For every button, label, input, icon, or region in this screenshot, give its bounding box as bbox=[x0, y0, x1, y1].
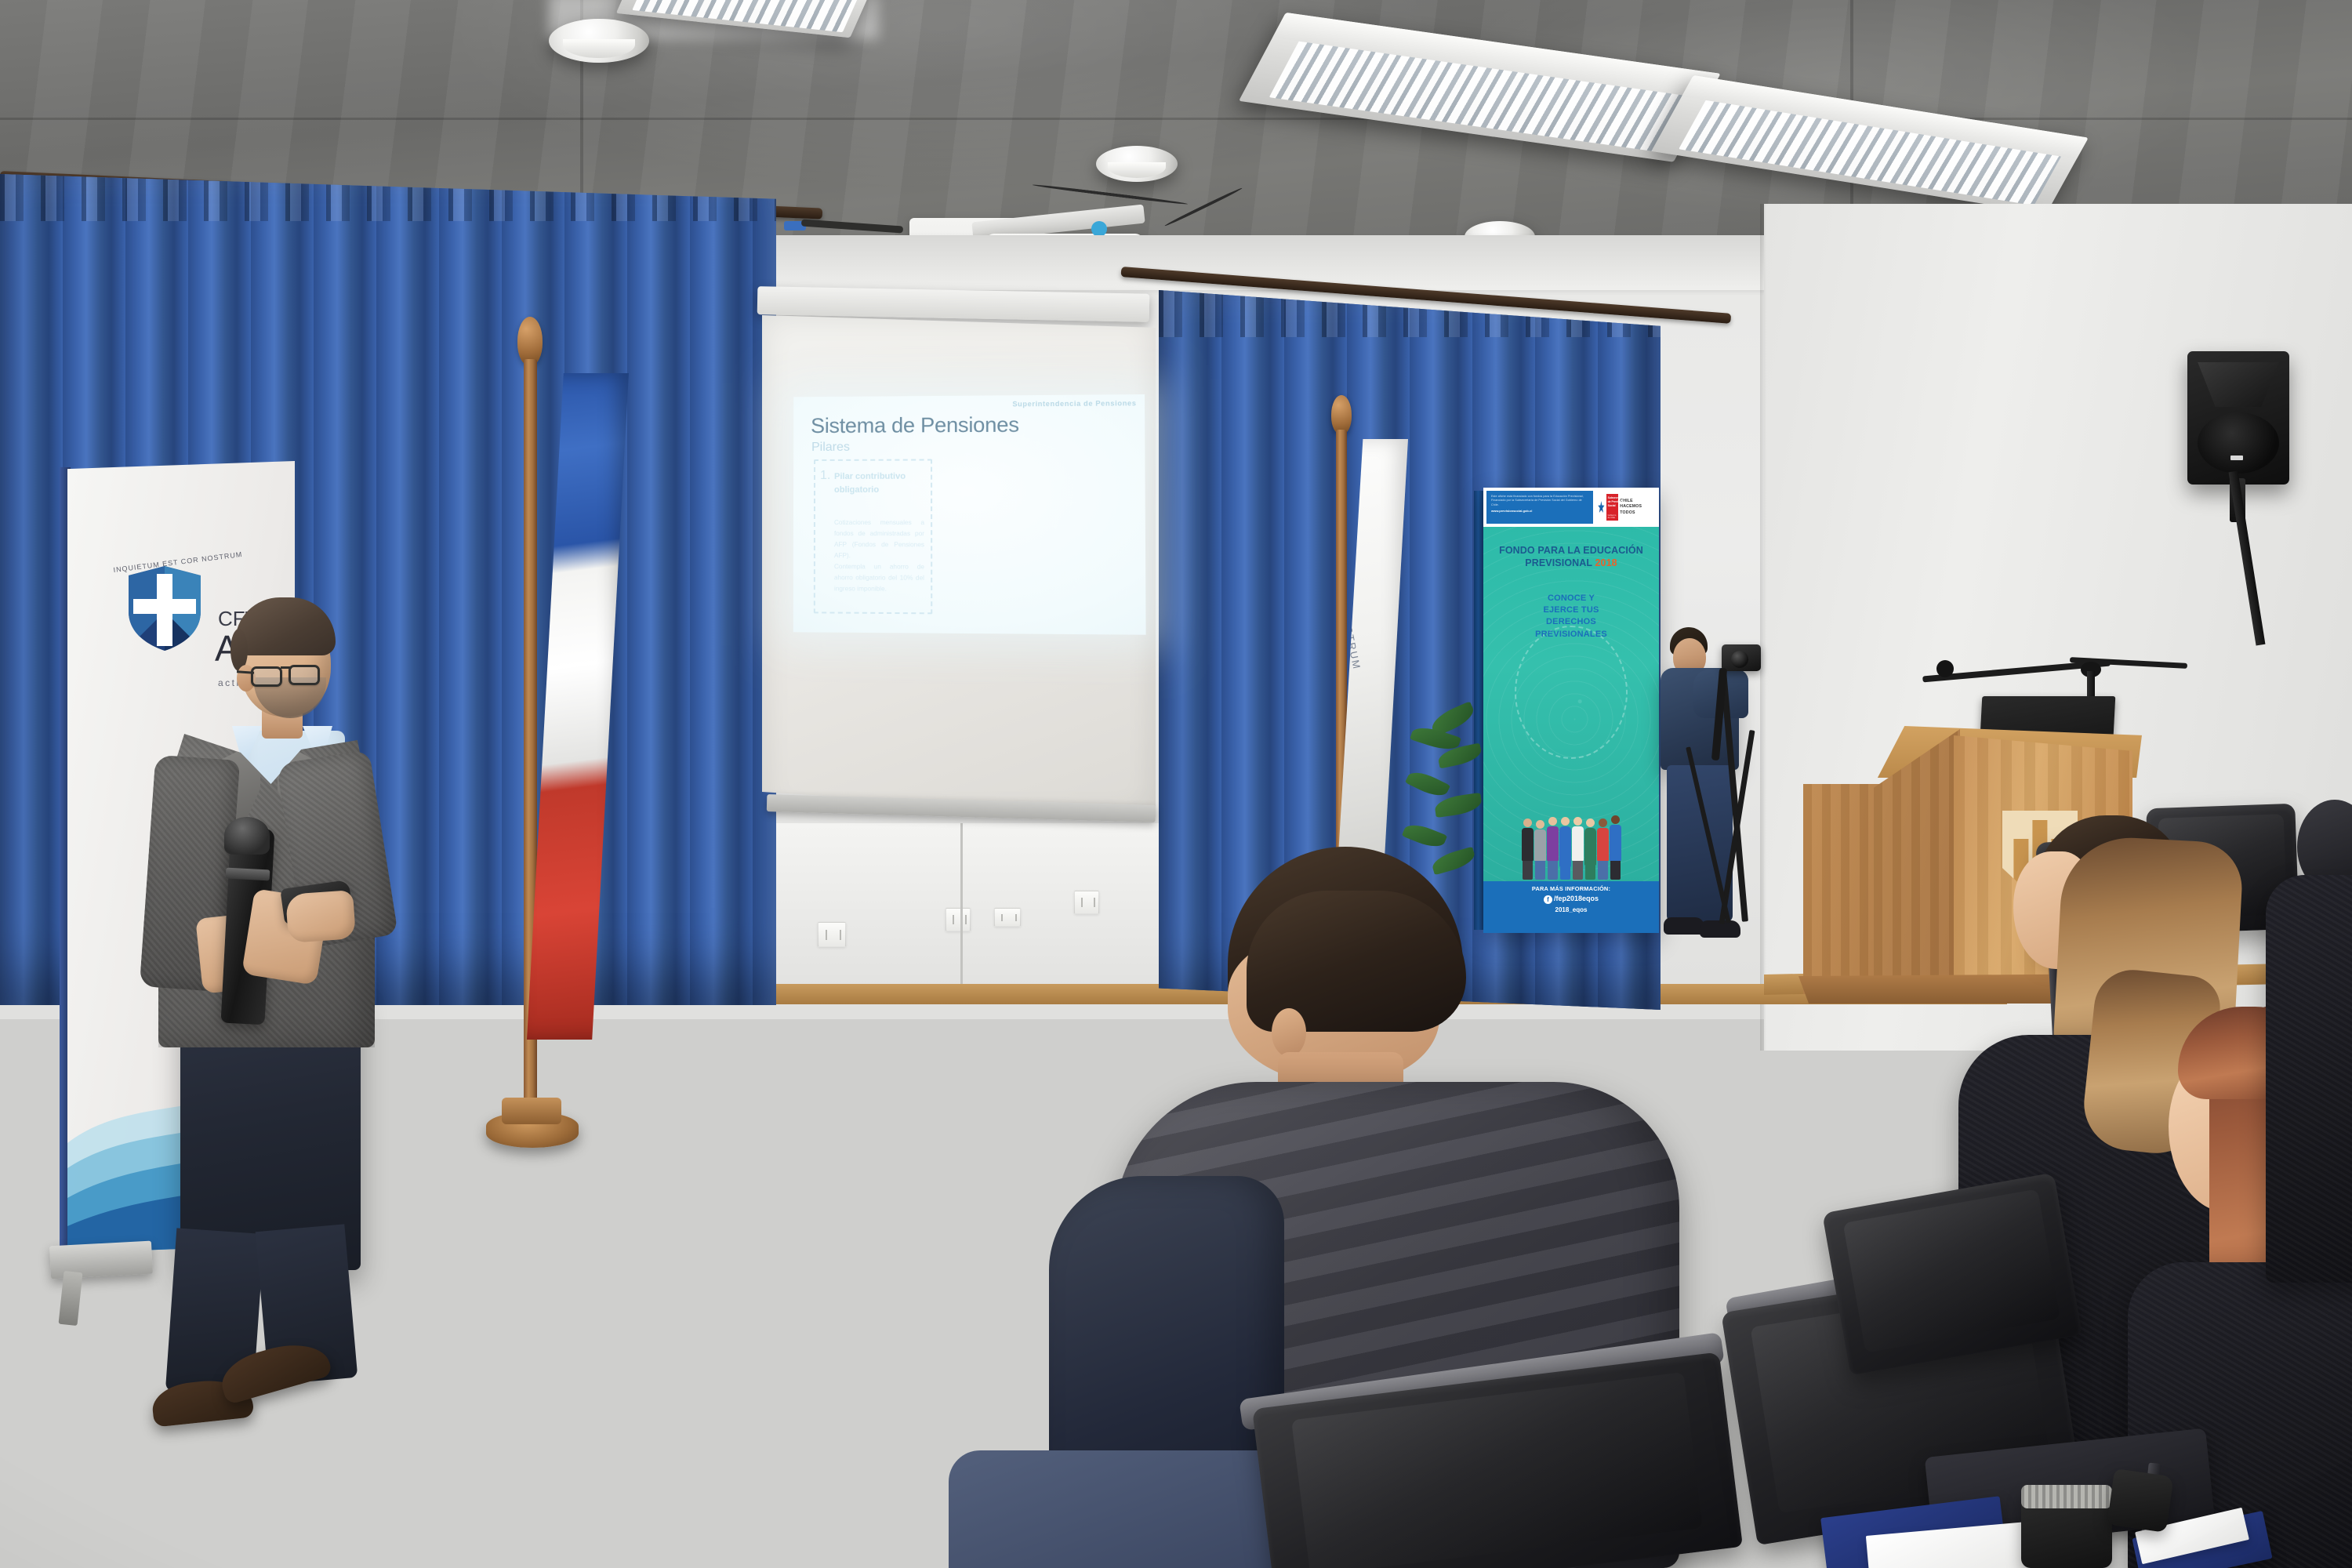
rollup-banner-foot bbox=[59, 1271, 83, 1326]
presenter-glasses-bridge bbox=[281, 666, 292, 669]
slide-bullet-title: Pilar contributivo obligatorio bbox=[834, 470, 926, 496]
plant-leaf bbox=[1405, 767, 1450, 800]
gov-footer-note: Gobierno de Chile bbox=[1608, 514, 1619, 519]
fep-sub-line-0: CONOCE Y bbox=[1548, 593, 1595, 603]
dome-light-2 bbox=[1096, 146, 1178, 182]
man-vest-ear bbox=[1272, 1008, 1306, 1057]
flag-finial-institutional bbox=[1331, 395, 1352, 434]
fep-title-line2: PREVISIONAL bbox=[1525, 557, 1592, 568]
presenter bbox=[165, 564, 572, 1568]
plant-leaf bbox=[1434, 793, 1483, 818]
projector-knob bbox=[1091, 221, 1107, 237]
microphone-band bbox=[226, 868, 270, 881]
presenter-glasses-lens-left bbox=[251, 666, 282, 687]
microphone-grille-icon bbox=[224, 817, 270, 855]
fep-banner-header: Este afiche está financiado con fondos p… bbox=[1483, 488, 1659, 527]
presenter-fingers bbox=[285, 890, 356, 943]
fep-dashed-circle bbox=[1515, 626, 1627, 759]
man-vest-jeans bbox=[949, 1450, 1278, 1568]
camera-lens-icon bbox=[1731, 651, 1748, 668]
microphone-head-icon bbox=[1936, 660, 1954, 677]
presenter-glasses-lens-right bbox=[289, 665, 320, 685]
wall-outlet-1[interactable] bbox=[818, 922, 846, 947]
fep-sub-line-2: DERECHOS bbox=[1546, 617, 1596, 626]
gov-agency-name: Subsecretaría de Previsión Social bbox=[1608, 496, 1625, 507]
slide-body-text-2: Contempla un ahorro de ahorro obligatori… bbox=[834, 561, 924, 595]
far-right-coat bbox=[2266, 875, 2352, 1283]
fep-header-url: www.previsionsocial.gob.cl bbox=[1491, 509, 1588, 513]
slide-corner-logo: Superintendencia de Pensiones bbox=[1012, 399, 1136, 408]
presenter-hair bbox=[235, 597, 336, 655]
audience-member-far-right bbox=[2274, 800, 2352, 1301]
ceiling-seam bbox=[0, 118, 2352, 120]
fep-header-text: Este afiche está financiado con fondos p… bbox=[1491, 495, 1588, 507]
slide-content: Superintendencia de Pensiones Sistema de… bbox=[793, 394, 1146, 635]
wall-conduit bbox=[960, 823, 963, 989]
fep-banner-subtitle: CONOCE Y EJERCE TUS DERECHOS PREVISIONAL… bbox=[1490, 593, 1653, 641]
boot-2 bbox=[2107, 1468, 2173, 1533]
fep-header-funding-note: Este afiche está financiado con fondos p… bbox=[1486, 491, 1593, 524]
slide-subtitle: Pilares bbox=[811, 441, 850, 455]
fep-title-line1: FONDO PARA LA EDUCACIÓN bbox=[1499, 545, 1643, 556]
wall-outlet-2[interactable] bbox=[946, 908, 971, 931]
fep-banner-title: FONDO PARA LA EDUCACIÓN PREVISIONAL 2018 bbox=[1486, 544, 1656, 569]
slide-bullet-number: 1. bbox=[820, 469, 830, 483]
fep-government-logo: Subsecretaría de Previsión Social Gobier… bbox=[1596, 491, 1656, 524]
slide-body-text-1: Cotizaciones mensuales a fondos de admin… bbox=[834, 517, 924, 561]
dome-light-1 bbox=[549, 19, 649, 63]
boot-fur-trim bbox=[2021, 1485, 2112, 1508]
man-vest-hair-back bbox=[1247, 891, 1466, 1032]
fep-sub-line-1: EJERCE TUS bbox=[1543, 605, 1599, 615]
gov-red-block: Subsecretaría de Previsión Social Gobier… bbox=[1606, 494, 1619, 521]
fep-title-year: 2018 bbox=[1595, 557, 1617, 568]
wall-outlet-3[interactable] bbox=[994, 908, 1021, 927]
slide-title: Sistema de Pensiones bbox=[811, 412, 1019, 438]
speaker-label-plate bbox=[2230, 456, 2243, 460]
speaker-horn bbox=[2198, 362, 2279, 408]
speaker-driver bbox=[2198, 412, 2279, 474]
auditorium-scene: EPSON Superintendencia de Pensiones Sist… bbox=[0, 0, 2352, 1568]
pa-speaker bbox=[2187, 351, 2289, 485]
flag-finial-chile bbox=[517, 317, 543, 365]
fep-sub-line-3: PREVISIONALES bbox=[1535, 630, 1607, 639]
slide-dashed-box: 1. Pilar contributivo obligatorio Cotiza… bbox=[814, 459, 932, 614]
chile-star-icon bbox=[1598, 501, 1604, 514]
